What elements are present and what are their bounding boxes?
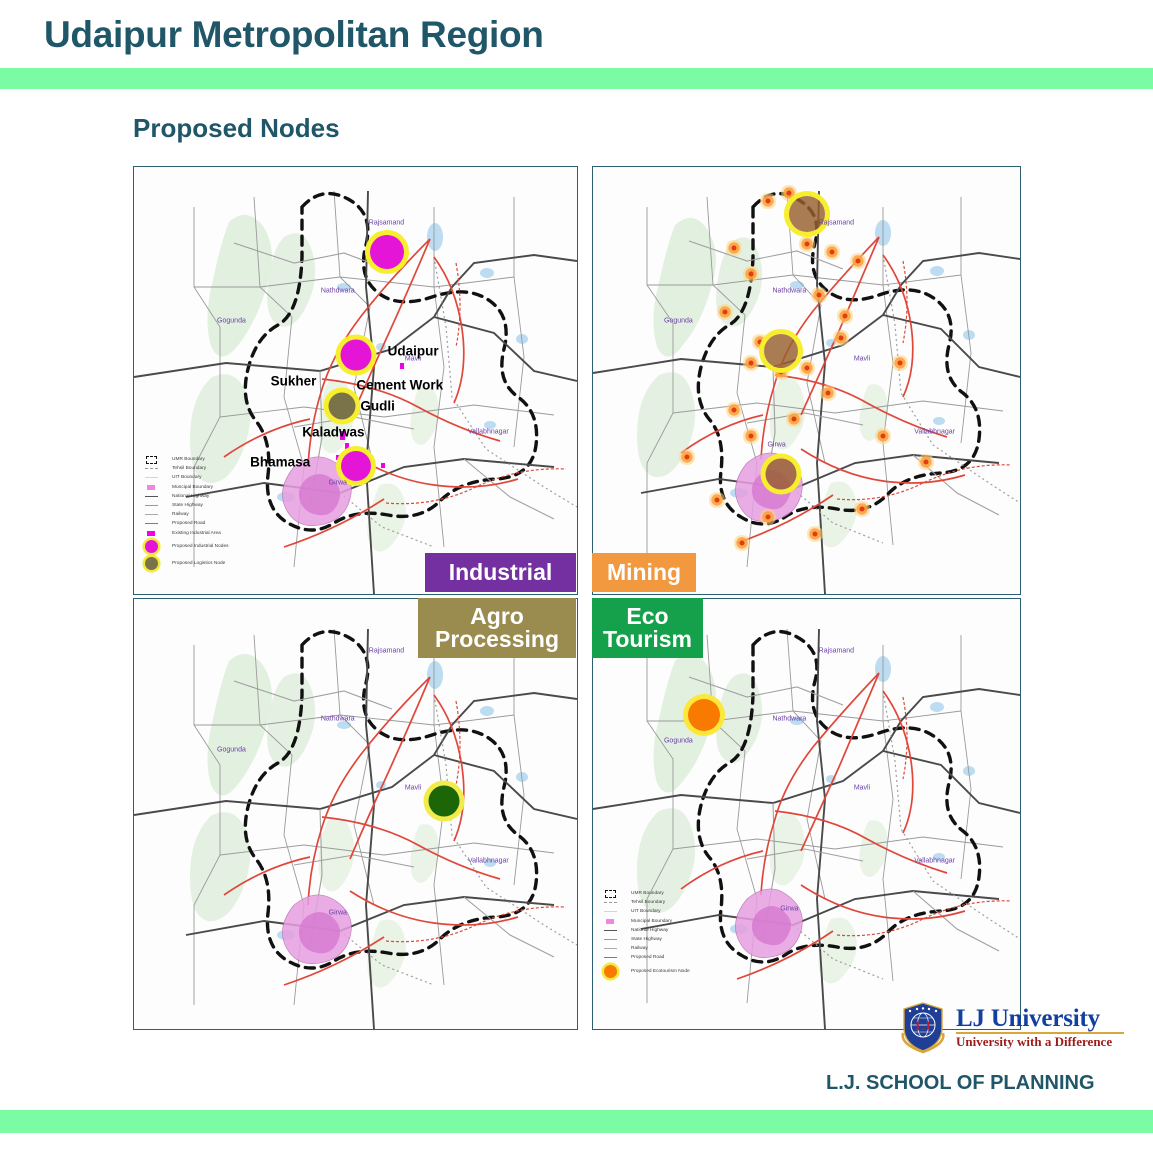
place-label-vallabhnagar: Vallabhnagar bbox=[914, 428, 955, 435]
legend-label: Proposed Road bbox=[621, 955, 664, 960]
node-agro-processing[interactable] bbox=[429, 786, 460, 817]
mining-dot[interactable] bbox=[714, 498, 719, 503]
legend-row: UIT Boundary bbox=[140, 473, 350, 482]
legend-row: Proposed Industrial Nodes bbox=[140, 538, 350, 555]
map-grid: Rajsamand Nathdwara Gogunda Mavli Vallab… bbox=[133, 166, 1019, 1028]
municipal-boundary-icon bbox=[599, 919, 621, 924]
place-label-nathdwara: Nathdwara bbox=[321, 716, 355, 723]
lj-university-crest-icon: LJ bbox=[896, 1000, 950, 1054]
tab-industrial[interactable]: Industrial bbox=[425, 553, 576, 592]
legend-row: Muncipal Boundary bbox=[140, 483, 350, 492]
node-label-gudli: Gudli bbox=[360, 399, 395, 414]
legend-label: State Highway bbox=[162, 503, 203, 508]
place-label-nathdwara: Nathdwara bbox=[772, 287, 806, 294]
railway-icon bbox=[140, 514, 162, 515]
legend-eco: UMR Boundary Tehsil Boundary UIT Boundar… bbox=[599, 889, 809, 980]
tab-mining[interactable]: Mining bbox=[592, 553, 696, 592]
mining-dot[interactable] bbox=[830, 250, 835, 255]
legend-row: Tehsil Boundary bbox=[140, 464, 350, 473]
legend-label: Muncipal Boundary bbox=[621, 919, 672, 924]
state-highway-icon bbox=[140, 505, 162, 506]
legend-row: Proposed Road bbox=[599, 953, 809, 962]
legend-row: Proposed Logistics Node bbox=[140, 555, 350, 572]
legend-row: State Highway bbox=[599, 935, 809, 944]
place-label-girwa: Girwa bbox=[767, 441, 785, 448]
brand-name: LJ University bbox=[956, 1006, 1124, 1031]
node-label-cement-work: Cement Work bbox=[356, 377, 443, 392]
mining-dot[interactable] bbox=[757, 340, 762, 345]
mining-dot[interactable] bbox=[817, 293, 822, 298]
place-label-vallabhnagar: Vallabhnagar bbox=[468, 428, 509, 435]
node-label-udaipur: Udaipur bbox=[388, 343, 439, 358]
mining-dot[interactable] bbox=[684, 455, 689, 460]
mining-dot[interactable] bbox=[766, 515, 771, 520]
tab-agro-processing[interactable]: Agro Processing bbox=[418, 598, 576, 658]
footer-accent-rule bbox=[0, 1110, 1153, 1133]
page-title: Udaipur Metropolitan Region bbox=[44, 14, 544, 56]
legend-row: National Highway bbox=[140, 492, 350, 501]
legend-label: Proposed Ecotourism Node bbox=[621, 969, 690, 974]
place-label-gogunda: Gogunda bbox=[217, 746, 246, 753]
legend-label: Existing Industrial Area bbox=[162, 531, 221, 536]
place-label-rajsamand: Rajsamand bbox=[369, 647, 404, 654]
section-title: Proposed Nodes bbox=[133, 113, 340, 144]
node-logistics-gudli[interactable] bbox=[329, 393, 356, 420]
mining-dot[interactable] bbox=[740, 540, 745, 545]
crest-graphic: LJ bbox=[896, 1000, 950, 1054]
mining-dot[interactable] bbox=[804, 241, 809, 246]
mining-dot[interactable] bbox=[860, 506, 865, 511]
node-ecotourism-gogunda[interactable] bbox=[688, 699, 720, 731]
municipal-boundary-icon bbox=[140, 485, 162, 490]
legend-row: Tehsil Boundary bbox=[599, 898, 809, 907]
place-label-nathdwara: Nathdwara bbox=[772, 716, 806, 723]
tab-agro-label-line2: Processing bbox=[435, 628, 559, 651]
mining-dot[interactable] bbox=[731, 408, 736, 413]
legend-label: UMR Boundary bbox=[162, 457, 205, 462]
mining-dot[interactable] bbox=[748, 361, 753, 366]
tehsil-boundary-icon bbox=[140, 468, 162, 469]
national-highway-icon bbox=[140, 496, 162, 497]
tab-eco-label-line1: Eco bbox=[626, 605, 668, 628]
svg-text:LJ: LJ bbox=[915, 1018, 931, 1033]
legend-row: Proposed Road bbox=[140, 519, 350, 528]
node-mining-girwa[interactable] bbox=[765, 459, 796, 490]
place-label-mavli: Mavli bbox=[854, 356, 870, 363]
mining-dot[interactable] bbox=[838, 335, 843, 340]
proposed-logistics-node-icon bbox=[140, 557, 162, 570]
mining-dot[interactable] bbox=[855, 258, 860, 263]
legend-label: National Highway bbox=[162, 494, 209, 499]
node-label-kaladwas: Kaladwas bbox=[302, 424, 364, 439]
proposed-ecotourism-node-icon bbox=[599, 965, 621, 978]
legend-label: Railway bbox=[162, 512, 189, 517]
tab-industrial-label: Industrial bbox=[449, 561, 553, 584]
umr-boundary-icon bbox=[140, 456, 162, 464]
legend-label: Proposed Logistics Node bbox=[162, 561, 225, 566]
legend-row: National Highway bbox=[599, 926, 809, 935]
legend-row: UIT Boundary bbox=[599, 907, 809, 916]
place-label-gogunda: Gogunda bbox=[664, 737, 693, 744]
place-label-rajsamand: Rajsamand bbox=[819, 219, 854, 226]
mining-dot[interactable] bbox=[898, 361, 903, 366]
place-label-gogunda: Gogunda bbox=[217, 317, 246, 324]
legend-label: Tehsil Boundary bbox=[162, 466, 206, 471]
tab-mining-label: Mining bbox=[607, 561, 681, 584]
proposed-road-icon bbox=[599, 957, 621, 958]
mining-dot[interactable] bbox=[813, 532, 818, 537]
node-label-sukher: Sukher bbox=[271, 373, 317, 388]
brand-text: LJ University University with a Differen… bbox=[950, 1006, 1124, 1048]
tab-eco-tourism[interactable]: Eco Tourism bbox=[592, 598, 703, 658]
legend-row: Railway bbox=[599, 944, 809, 953]
mining-dot[interactable] bbox=[842, 314, 847, 319]
mining-dot[interactable] bbox=[748, 434, 753, 439]
map-panel-mining[interactable]: Rajsamand Nathdwara Gogunda Mavli Vallab… bbox=[592, 166, 1021, 595]
legend-label: Proposed Road bbox=[162, 521, 205, 526]
legend-label: Tehsil Boundary bbox=[621, 900, 665, 905]
place-label-gogunda: Gogunda bbox=[664, 317, 693, 324]
legend-label: Proposed Industrial Nodes bbox=[162, 544, 229, 549]
place-label-nathdwara: Nathdwara bbox=[321, 287, 355, 294]
uit-boundary-icon bbox=[140, 477, 162, 478]
node-mining-rajsamand[interactable] bbox=[789, 196, 825, 232]
title-bar: Udaipur Metropolitan Region bbox=[0, 0, 1153, 68]
legend-label: UMR Boundary bbox=[621, 891, 664, 896]
legend-label: Muncipal Boundary bbox=[162, 485, 213, 490]
national-highway-icon bbox=[599, 930, 621, 931]
legend-row: UMR Boundary bbox=[140, 455, 350, 464]
legend-label: Railway bbox=[621, 946, 648, 951]
legend-industrial: UMR Boundary Tehsil Boundary UIT Boundar… bbox=[140, 455, 350, 572]
tehsil-boundary-icon bbox=[599, 902, 621, 903]
place-label-rajsamand: Rajsamand bbox=[819, 647, 854, 654]
place-label-vallabhnagar: Vallabhnagar bbox=[468, 858, 509, 865]
legend-row: Proposed Ecotourism Node bbox=[599, 963, 809, 980]
umr-boundary-icon bbox=[599, 890, 621, 898]
proposed-industrial-node-icon bbox=[140, 540, 162, 553]
uit-boundary-icon bbox=[599, 911, 621, 912]
proposed-road-icon bbox=[140, 523, 162, 524]
state-highway-icon bbox=[599, 939, 621, 940]
mining-dot[interactable] bbox=[748, 271, 753, 276]
place-label-vallabhnagar: Vallabhnagar bbox=[914, 858, 955, 865]
place-label-mavli: Mavli bbox=[854, 785, 870, 792]
mining-dot[interactable] bbox=[731, 246, 736, 251]
mining-dot[interactable] bbox=[881, 434, 886, 439]
header-accent-rule bbox=[0, 68, 1153, 89]
node-mining-nathdwara[interactable] bbox=[764, 334, 798, 368]
legend-label: National Highway bbox=[621, 928, 668, 933]
legend-row: Existing Industrial Area bbox=[140, 529, 350, 538]
mining-dot[interactable] bbox=[778, 369, 783, 374]
legend-row: Muncipal Boundary bbox=[599, 917, 809, 926]
map-panel-industrial[interactable]: Rajsamand Nathdwara Gogunda Mavli Vallab… bbox=[133, 166, 578, 595]
legend-row: Railway bbox=[140, 510, 350, 519]
tab-eco-label-line2: Tourism bbox=[603, 628, 692, 651]
legend-label: State Highway bbox=[621, 937, 662, 942]
place-label-rajsamand: Rajsamand bbox=[369, 219, 404, 226]
mining-dot[interactable] bbox=[723, 310, 728, 315]
railway-icon bbox=[599, 948, 621, 949]
mining-dot[interactable] bbox=[787, 190, 792, 195]
tab-agro-label-line1: Agro bbox=[470, 605, 524, 628]
mining-dot[interactable] bbox=[766, 199, 771, 204]
existing-industrial-area-icon bbox=[140, 531, 162, 536]
agro-map-graphic bbox=[134, 599, 577, 1029]
brand-tagline: University with a Difference bbox=[956, 1035, 1124, 1048]
node-industrial-1[interactable] bbox=[370, 235, 404, 269]
place-label-girwa: Girwa bbox=[329, 909, 347, 916]
footer-department: L.J. SCHOOL OF PLANNING bbox=[826, 1072, 1095, 1095]
legend-row: State Highway bbox=[140, 501, 350, 510]
legend-label: UIT Boundary bbox=[162, 475, 202, 480]
place-label-mavli: Mavli bbox=[405, 785, 421, 792]
mining-dot[interactable] bbox=[791, 416, 796, 421]
legend-label: UIT Boundary bbox=[621, 909, 661, 914]
map-panel-agro[interactable]: Rajsamand Nathdwara Gogunda Mavli Vallab… bbox=[133, 598, 578, 1030]
legend-row: UMR Boundary bbox=[599, 889, 809, 898]
map-panel-eco[interactable]: Rajsamand Nathdwara Gogunda Mavli Vallab… bbox=[592, 598, 1021, 1030]
brand-lockup: LJ LJ University University with a Diffe… bbox=[896, 998, 1130, 1056]
mining-dot[interactable] bbox=[924, 459, 929, 464]
node-industrial-2[interactable] bbox=[340, 339, 371, 370]
mining-dot[interactable] bbox=[804, 365, 809, 370]
mining-dot[interactable] bbox=[825, 391, 830, 396]
